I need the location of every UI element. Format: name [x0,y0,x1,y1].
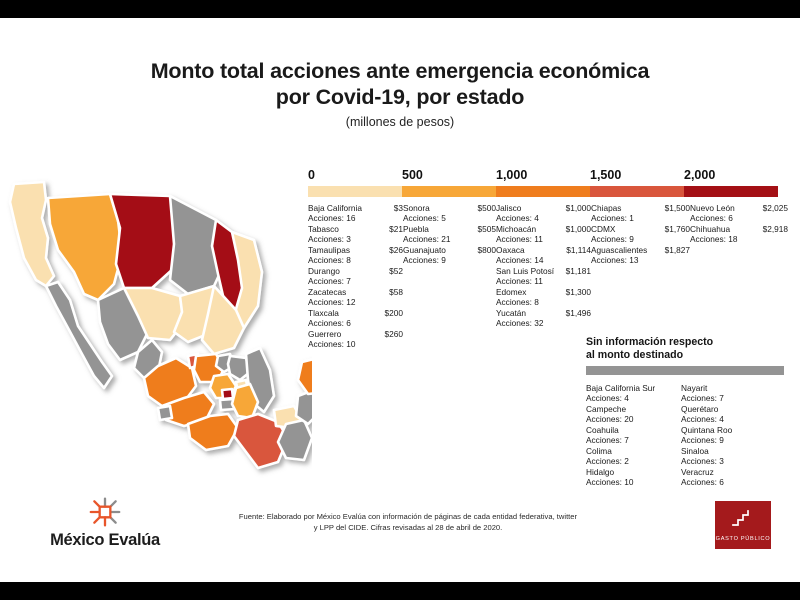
state-amount: $505 [478,225,496,233]
legend-color-bar [308,186,778,197]
source-line1: Fuente: Elaborado por México Evalúa con … [225,512,591,523]
legend-band-1 [308,186,402,197]
map-svg [2,176,312,496]
state-entry: Michoacán$1,000 Acciones: 11 [496,225,591,244]
state-entry: Puebla$505 Acciones: 21 [403,225,496,244]
state-acciones: Acciones: 12 [308,298,403,306]
state-amount: $58 [389,288,403,296]
mexico-evalua-wordmark: México Evalúa [30,531,180,550]
state-name: Guanajuato [403,246,450,254]
no-information-title-line1: Sin información respecto [586,336,786,349]
source-line2: y LPP del CIDE. Cifras revisadas al 28 d… [225,523,591,534]
state-entry: CDMX$1,760 Acciones: 9 [591,225,690,244]
state-acciones: Acciones: 5 [403,214,496,222]
state-amount: $1,000 [566,204,591,212]
title-block: Monto total acciones ante emergencia eco… [90,58,710,129]
state-entry: Coahuila Acciones: 7 [586,426,681,445]
state-name: Tlaxcala [308,309,343,317]
state-amount: $2,025 [763,204,788,212]
legend-tick-500: 500 [402,168,423,182]
data-column-1: Baja California$3 Acciones: 16 Tabasco$2… [308,204,403,351]
state-name: Puebla [403,225,433,233]
state-entry: Durango$52 Acciones: 7 [308,267,403,286]
legend-scale: 0 500 1,000 1,500 2,000 [308,168,778,197]
page-subtitle: (millones de pesos) [90,115,710,129]
state-entry: Chiapas$1,500 Acciones: 1 [591,204,690,223]
state-entry: Hidalgo Acciones: 10 [586,468,681,487]
state-entry: Jalisco$1,000 Acciones: 4 [496,204,591,223]
no-information-title-line2: al monto destinado [586,349,786,362]
state-name: Aguascalientes [591,246,651,254]
data-column-2: Sonora$500 Acciones: 5 Puebla$505 Accion… [403,204,496,351]
state-name: Sinaloa [681,447,781,455]
state-entry: Oaxaca$1,114 Acciones: 14 [496,246,591,265]
page-title-line1: Monto total acciones ante emergencia eco… [90,58,710,84]
state-amount: $2,918 [763,225,788,233]
state-name: Durango [308,267,344,275]
legend-band-4 [590,186,684,197]
state-amount: $1,496 [566,309,591,317]
state-acciones: Acciones: 9 [591,235,690,243]
stairs-icon [730,508,756,533]
state-name: Yucatán [496,309,530,317]
state-name: Tamaulipas [308,246,354,254]
state-acciones: Acciones: 7 [586,436,681,444]
state-acciones: Acciones: 11 [496,277,591,285]
state-acciones: Acciones: 13 [591,256,690,264]
state-entry: Guanajuato$800 Acciones: 9 [403,246,496,265]
data-column-3: Jalisco$1,000 Acciones: 4 Michoacán$1,00… [496,204,591,351]
state-acciones: Acciones: 20 [586,415,681,423]
state-name: Hidalgo [586,468,681,476]
state-name: Nayarit [681,384,781,392]
state-amount: $200 [385,309,403,317]
state-name: Nuevo León [690,204,739,212]
state-acciones: Acciones: 9 [681,436,781,444]
mexico-choropleth-map [2,176,312,496]
state-entry: Nuevo León$2,025 Acciones: 6 [690,204,788,223]
state-acciones: Acciones: 10 [308,340,403,348]
state-name: Baja California [308,204,366,212]
state-name: Baja California Sur [586,384,681,392]
no-information-column-right: Nayarit Acciones: 7 Querétaro Acciones: … [681,384,781,489]
state-acciones: Acciones: 6 [690,214,788,222]
state-acciones: Acciones: 3 [681,457,781,465]
state-acciones: Acciones: 11 [496,235,591,243]
legend-tick-1500: 1,500 [590,168,621,182]
page-title-line2: por Covid-19, por estado [90,84,710,110]
state-entry: Yucatán$1,496 Acciones: 32 [496,309,591,328]
state-amount: $26 [389,246,403,254]
state-acciones: Acciones: 32 [496,319,591,327]
state-acciones: Acciones: 4 [681,415,781,423]
state-acciones: Acciones: 8 [496,298,591,306]
state-entry: Sonora$500 Acciones: 5 [403,204,496,223]
state-entry: Nayarit Acciones: 7 [681,384,781,403]
state-name: Edomex [496,288,530,296]
state-name: Coahuila [586,426,681,434]
infographic-page: Monto total acciones ante emergencia eco… [0,0,800,600]
state-acciones: Acciones: 2 [586,457,681,465]
state-name: Chihuahua [690,225,734,233]
legend-tick-2000: 2,000 [684,168,715,182]
state-amount: $800 [478,246,496,254]
no-information-color-swatch [586,366,784,375]
source-note: Fuente: Elaborado por México Evalúa con … [225,512,591,533]
state-colima [158,406,172,420]
state-amount: $3 [394,204,403,212]
mexico-evalua-logo: México Evalúa [30,496,180,550]
state-acciones: Acciones: 9 [403,256,496,264]
legend-band-3 [496,186,590,197]
state-cdmx [222,389,233,399]
star-icon [30,496,180,528]
state-entry: San Luis Potosí$1,181 Acciones: 11 [496,267,591,286]
state-acciones: Acciones: 6 [308,319,403,327]
state-amount: $21 [389,225,403,233]
state-name: Tabasco [308,225,343,233]
state-entry: Guerrero$260 Acciones: 10 [308,330,403,349]
state-data-columns: Baja California$3 Acciones: 16 Tabasco$2… [308,204,788,351]
state-amount: $260 [385,330,403,338]
state-yucatan [298,356,312,394]
state-entry: Baja California$3 Acciones: 16 [308,204,403,223]
state-amount: $1,000 [566,225,591,233]
state-name: Michoacán [496,225,540,233]
state-acciones: Acciones: 8 [308,256,403,264]
state-acciones: Acciones: 7 [308,277,403,285]
legend-tick-labels: 0 500 1,000 1,500 2,000 [308,168,778,185]
data-column-4: Chiapas$1,500 Acciones: 1 CDMX$1,760 Acc… [591,204,690,351]
state-name: Guerrero [308,330,345,338]
state-entry: Tlaxcala$200 Acciones: 6 [308,309,403,328]
state-name: Zacatecas [308,288,350,296]
state-acciones: Acciones: 1 [591,214,690,222]
state-name: Chiapas [591,204,625,212]
state-acciones: Acciones: 14 [496,256,591,264]
state-acciones: Acciones: 21 [403,235,496,243]
state-amount: $1,181 [566,267,591,275]
state-entry: Tabasco$21 Acciones: 3 [308,225,403,244]
no-information-columns: Baja California Sur Acciones: 4 Campeche… [586,384,786,489]
legend-tick-0: 0 [308,168,315,182]
state-acciones: Acciones: 18 [690,235,788,243]
state-amount: $500 [478,204,496,212]
state-entry: Tamaulipas$26 Acciones: 8 [308,246,403,265]
state-entry: Quintana Roo Acciones: 9 [681,426,781,445]
state-entry: Sinaloa Acciones: 3 [681,447,781,466]
state-name: Campeche [586,405,681,413]
state-entry: Veracruz Acciones: 6 [681,468,781,487]
state-name: Veracruz [681,468,781,476]
state-name: CDMX [591,225,619,233]
legend-band-2 [402,186,496,197]
gasto-publico-badge: GASTO PÚBLICO [715,501,771,549]
state-acciones: Acciones: 16 [308,214,403,222]
state-entry: Querétaro Acciones: 4 [681,405,781,424]
state-amount: $1,300 [566,288,591,296]
state-name: Querétaro [681,405,781,413]
state-entry: Baja California Sur Acciones: 4 [586,384,681,403]
state-entry: Aguascalientes$1,827 Acciones: 13 [591,246,690,265]
state-entry: Colima Acciones: 2 [586,447,681,466]
state-entry: Chihuahua$2,918 Acciones: 18 [690,225,788,244]
no-information-column-left: Baja California Sur Acciones: 4 Campeche… [586,384,681,489]
state-name: Colima [586,447,681,455]
state-acciones: Acciones: 4 [496,214,591,222]
state-acciones: Acciones: 4 [586,394,681,402]
infographic-canvas: Monto total acciones ante emergencia eco… [0,18,800,582]
state-amount: $1,827 [665,246,690,254]
state-amount: $1,760 [665,225,690,233]
state-entry: Zacatecas$58 Acciones: 12 [308,288,403,307]
gasto-publico-label: GASTO PÚBLICO [716,536,771,542]
legend-band-5 [684,186,778,197]
legend-tick-1000: 1,000 [496,168,527,182]
state-acciones: Acciones: 6 [681,478,781,486]
state-entry: Edomex$1,300 Acciones: 8 [496,288,591,307]
state-amount: $1,500 [665,204,690,212]
state-name: Quintana Roo [681,426,781,434]
state-entry: Campeche Acciones: 20 [586,405,681,424]
state-name: Sonora [403,204,434,212]
state-name: San Luis Potosí [496,267,558,275]
state-name: Oaxaca [496,246,529,254]
data-column-5: Nuevo León$2,025 Acciones: 6 Chihuahua$2… [690,204,788,351]
state-amount: $1,114 [566,246,591,254]
state-name: Jalisco [496,204,525,212]
state-acciones: Acciones: 10 [586,478,681,486]
state-acciones: Acciones: 3 [308,235,403,243]
state-amount: $52 [389,267,403,275]
state-acciones: Acciones: 7 [681,394,781,402]
no-information-section: Sin información respecto al monto destin… [586,336,786,489]
